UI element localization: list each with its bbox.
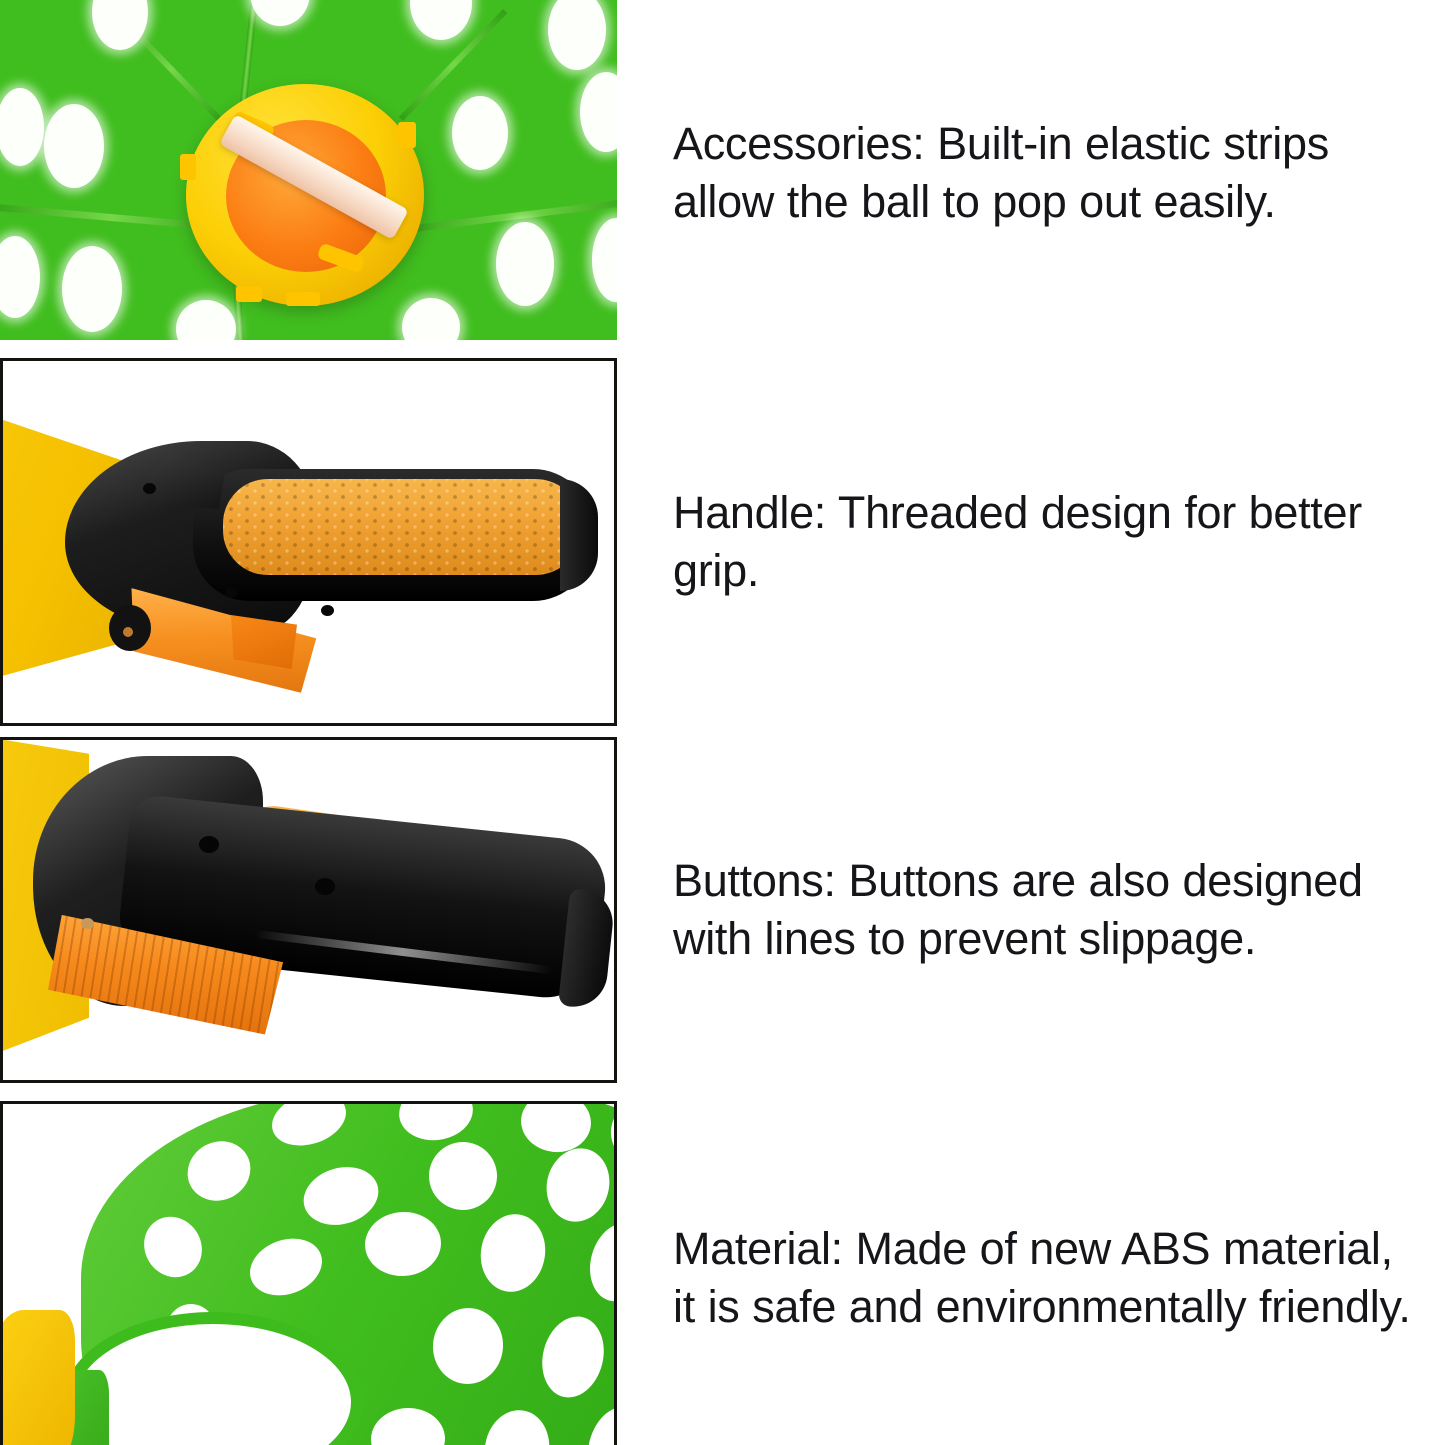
feature-caption-buttons: Buttons: Buttons are also designed with … [617,852,1445,969]
feature-caption-handle: Handle: Threaded design for better grip. [617,484,1445,601]
basket-illustration [3,1104,614,1445]
textured-grip [223,479,583,575]
feature-row-accessories: Accessories: Built-in elastic strips all… [0,0,1445,340]
feature-row-buttons: Buttons: Buttons are also designed with … [0,737,1445,1083]
handle-endcap [560,479,598,591]
feature-row-material: Material: Made of new ABS material, it i… [0,1101,1445,1445]
trigger-button-photo [0,737,617,1083]
infographic-page: Accessories: Built-in elastic strips all… [0,0,1445,1445]
trigger-pivot [109,605,151,651]
elastic-strip-hub-photo [0,0,617,340]
yellow-part [3,1310,75,1445]
scoop-hub-illustration [0,0,617,340]
feature-row-handle: Handle: Threaded design for better grip. [0,358,1445,726]
trigger-pin [81,918,94,929]
abs-basket-photo [0,1101,617,1445]
feature-caption-material: Material: Made of new ABS material, it i… [617,1210,1445,1337]
feature-caption-accessories: Accessories: Built-in elastic strips all… [617,109,1445,232]
button-illustration [3,740,614,1080]
handle-grip-photo [0,358,617,726]
handle-illustration [3,361,614,723]
